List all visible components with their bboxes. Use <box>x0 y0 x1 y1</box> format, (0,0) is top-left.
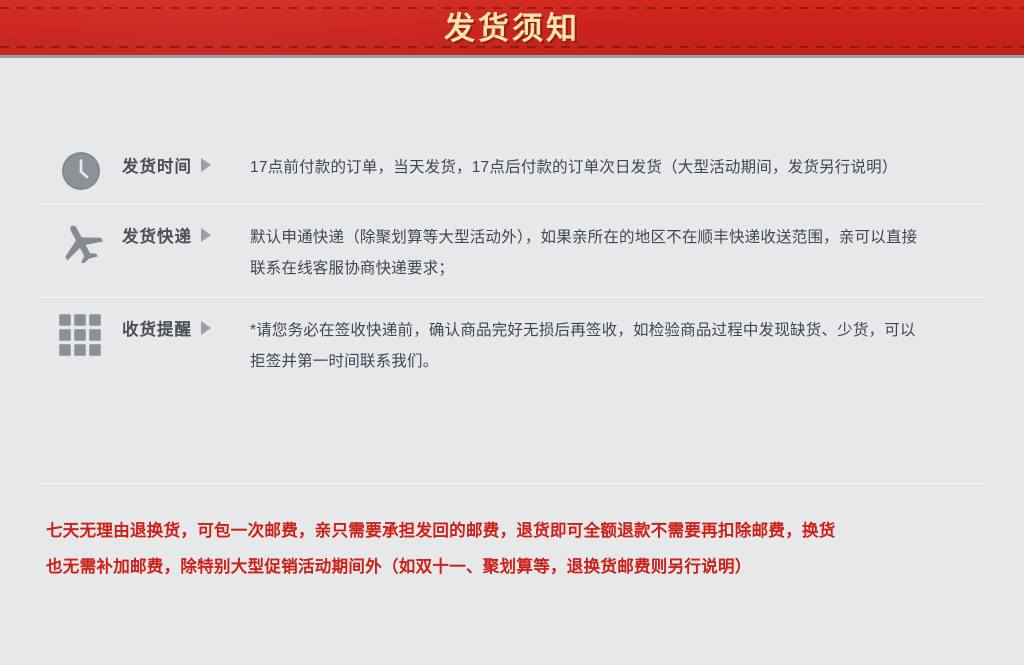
header-banner: 发货须知 <box>0 0 1024 58</box>
clock-icon <box>61 151 101 191</box>
row-label-shipping-time: 发货时间 <box>122 153 192 177</box>
icon-cell <box>40 219 122 263</box>
grid-icon <box>59 314 103 358</box>
airplane-icon <box>58 221 104 263</box>
notice-text-line: 17点前付款的订单，当天发货，17点后付款的订单次日发货（大型活动期间，发货另行… <box>250 152 984 183</box>
content-area: 发货时间 17点前付款的订单，当天发货，17点后付款的订单次日发货（大型活动期间… <box>0 136 1024 585</box>
shipping-notice-page: 发货须知 发货时间 <box>0 0 1024 665</box>
notice-row-shipping-courier: 发货快递 默认申通快递（除聚划算等大型活动外），如果亲所在的地区不在顺丰快递收送… <box>40 205 984 298</box>
text-cell: *请您务必在签收快递前，确认商品完好无损后再签收，如检验商品过程中发现缺货、少货… <box>244 312 984 377</box>
banner-stitch-bottom-decoration <box>0 46 1024 48</box>
text-cell: 默认申通快递（除聚划算等大型活动外），如果亲所在的地区不在顺丰快递收送范围，亲可… <box>244 219 984 284</box>
label-cell: 收货提醒 <box>122 312 244 340</box>
label-cell: 发货时间 <box>122 149 244 177</box>
triangle-right-icon <box>201 321 211 335</box>
banner-stitch-top-decoration <box>0 7 1024 9</box>
return-policy-line: 也无需补加邮费，除特别大型促销活动期间外（如双十一、聚划算等，退换货邮费则另行说… <box>46 549 984 585</box>
icon-cell <box>40 149 122 191</box>
icon-cell <box>40 312 122 358</box>
notice-text-line: 默认申通快递（除聚划算等大型活动外），如果亲所在的地区不在顺丰快递收送范围，亲可… <box>250 222 984 253</box>
notice-text-line: 联系在线客服协商快递要求； <box>250 253 984 284</box>
footer-divider <box>40 483 984 484</box>
row-label-receiving-reminder: 收货提醒 <box>122 316 192 340</box>
label-cell: 发货快递 <box>122 219 244 247</box>
notice-text-line: 拒签并第一时间联系我们。 <box>250 346 984 377</box>
triangle-right-icon <box>201 228 211 242</box>
notice-section-list: 发货时间 17点前付款的订单，当天发货，17点后付款的订单次日发货（大型活动期间… <box>40 136 984 391</box>
triangle-right-icon <box>201 158 211 172</box>
page-title: 发货须知 <box>444 13 580 46</box>
notice-text-line: *请您务必在签收快递前，确认商品完好无损后再签收，如检验商品过程中发现缺货、少货… <box>250 315 984 346</box>
notice-row-receiving-reminder: 收货提醒 *请您务必在签收快递前，确认商品完好无损后再签收，如检验商品过程中发现… <box>40 298 984 391</box>
row-label-shipping-courier: 发货快递 <box>122 223 192 247</box>
notice-row-shipping-time: 发货时间 17点前付款的订单，当天发货，17点后付款的订单次日发货（大型活动期间… <box>40 136 984 205</box>
return-policy-line: 七天无理由退换货，可包一次邮费，亲只需要承担发回的邮费，退货即可全额退款不需要再… <box>46 513 984 549</box>
text-cell: 17点前付款的订单，当天发货，17点后付款的订单次日发货（大型活动期间，发货另行… <box>244 149 984 183</box>
return-policy-note: 七天无理由退换货，可包一次邮费，亲只需要承担发回的邮费，退货即可全额退款不需要再… <box>40 513 984 585</box>
